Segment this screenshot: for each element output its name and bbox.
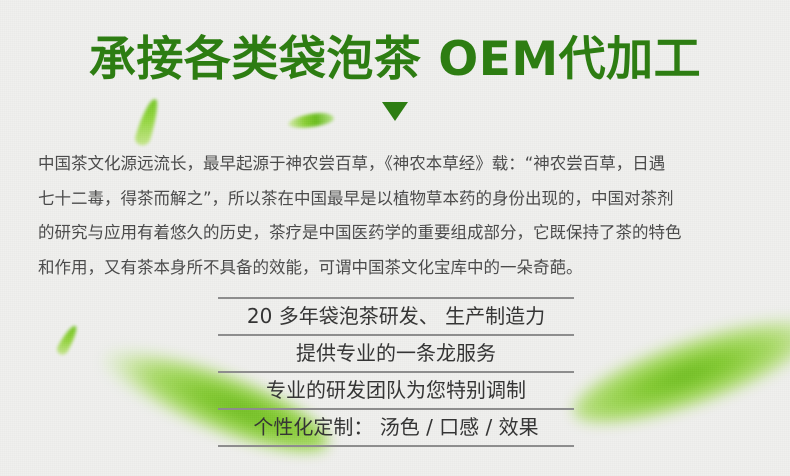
feature-list-item: 个性化定制： 汤色 / 口感 / 效果	[218, 410, 574, 445]
intro-line: 和作用，又有茶本身所不具备的效能，可谓中国茶文化宝库中的一朵奇葩。	[38, 251, 754, 286]
leaf-icon-tiny-left	[55, 323, 80, 356]
page-title: 承接各类袋泡茶 OEM代加工	[0, 34, 790, 86]
feature-list: 20 多年袋泡茶研发、 生产制造力 提供专业的一条龙服务 专业的研发团队为您特别…	[218, 297, 574, 447]
intro-line: 中国茶文化源远流长，最早起源于神农尝百草，《神农本草经》载：“神农尝百草，日遇	[38, 147, 754, 182]
feature-list-item: 提供专业的一条龙服务	[218, 336, 574, 373]
promo-banner: 承接各类袋泡茶 OEM代加工 中国茶文化源远流长，最早起源于神农尝百草，《神农本…	[0, 0, 790, 476]
intro-line: 的研究与应用有着悠久的历史，茶疗是中国医药学的重要组成部分，它既保持了茶的特色	[38, 216, 754, 251]
intro-paragraph: 中国茶文化源远流长，最早起源于神农尝百草，《神农本草经》载：“神农尝百草，日遇 …	[38, 147, 754, 285]
triangle-down-icon	[382, 102, 408, 121]
leaf-icon-small-mid	[287, 111, 334, 130]
feature-list-item: 20 多年袋泡茶研发、 生产制造力	[218, 299, 574, 336]
intro-line: 七十二毒，得茶而解之”，所以茶在中国最早是以植物草本药的身份出现的，中国对茶剂	[38, 182, 754, 217]
feature-list-item: 专业的研发团队为您特别调制	[218, 373, 574, 410]
leaf-icon-sprout-left	[134, 97, 162, 147]
leaf-icon-big-bottom-right	[562, 298, 790, 444]
